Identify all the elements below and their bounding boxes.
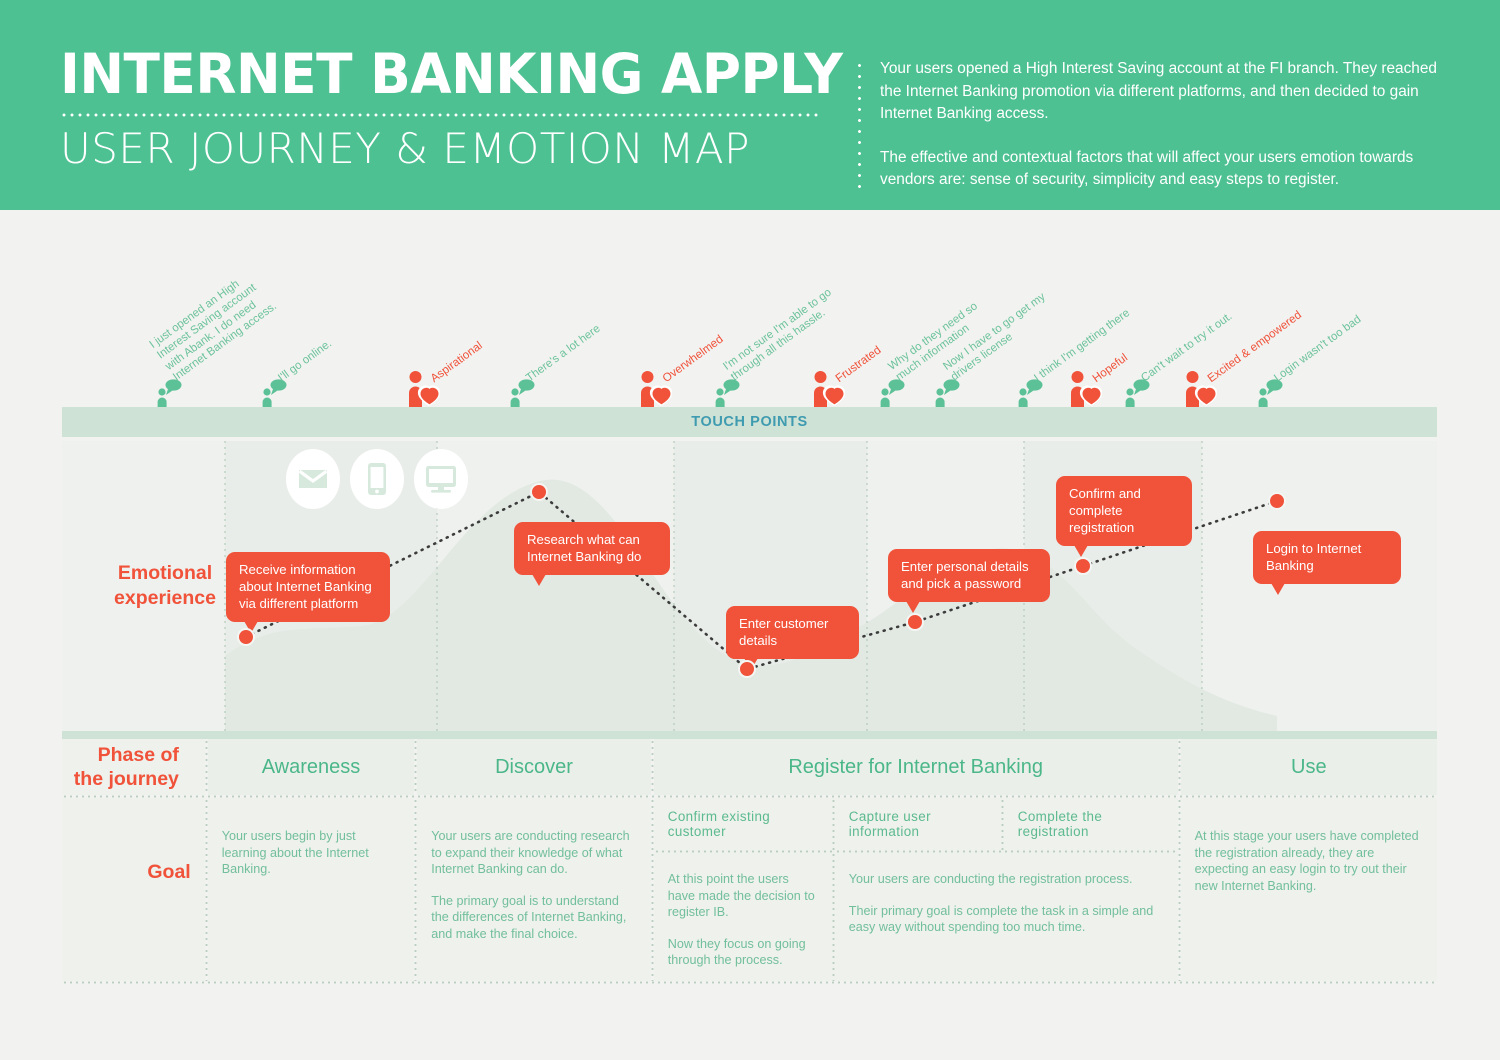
goal-cell-discover: Your users are conducting research to ex…: [417, 798, 650, 981]
emotional-experience-label-line1: Emotional: [118, 562, 212, 584]
emotion-data-point-5[interactable]: [1074, 557, 1092, 575]
goal-cell-awareness: Your users begin by just learning about …: [208, 798, 415, 981]
emotion-callout-5[interactable]: Confirm andcompleteregistration: [1056, 476, 1192, 546]
emotion-callout-line: Banking: [1266, 558, 1314, 573]
divider: [62, 981, 1437, 984]
goal-cell-register: Confirm existing customer At this point …: [654, 798, 1178, 981]
header-description-paragraph-1: Your users opened a High Interest Saving…: [880, 58, 1450, 126]
phase-cell-use: Use: [1181, 739, 1437, 795]
emotion-data-point-6[interactable]: [1268, 492, 1286, 510]
goal-subcolumn-confirm: Confirm existing customer At this point …: [654, 798, 832, 981]
goal-text: Your users are conducting the registrati…: [849, 871, 1160, 888]
mobile-phone-icon: [350, 449, 404, 509]
emotion-callout-line: and pick a password: [901, 576, 1021, 591]
header-description: Your users opened a High Interest Saving…: [880, 58, 1450, 213]
touch-point-label: I just opened an HighInterest Saving acc…: [147, 268, 279, 385]
touch-point-label-line: I'm not sure I'm able to go: [721, 287, 834, 373]
emotion-callout-6[interactable]: Login to InternetBanking: [1253, 531, 1401, 584]
goal-text: The primary goal is to understand the di…: [431, 893, 634, 943]
touch-point-label: Aspirational: [428, 339, 485, 385]
touch-point-label-line: There's a lot here: [524, 322, 602, 384]
phase-cell-discover: Discover: [417, 739, 650, 795]
goal-text: Your users are conducting research to ex…: [431, 828, 634, 878]
touch-point-label: There's a lot here: [524, 322, 603, 385]
touch-point-label-line: Aspirational: [428, 339, 485, 385]
header-banner: INTERNET BANKING APPLY USER JOURNEY & EM…: [0, 0, 1500, 210]
emotion-callout-line: Enter customer: [739, 616, 828, 631]
phase-name: Awareness: [262, 756, 361, 779]
emotion-callout-line: details: [739, 633, 777, 648]
emotion-callout-line: Research what can: [527, 532, 640, 547]
infographic-canvas: INTERNET BANKING APPLY USER JOURNEY & EM…: [0, 0, 1500, 1060]
touch-point-label-line: I'll go online.: [276, 337, 334, 384]
journey-table: Phase of the journey Awareness Discover …: [62, 731, 1437, 984]
goal-cell-use: At this stage your users have completed …: [1181, 798, 1437, 981]
touch-points-banner-label: TOUCH POINTS: [691, 414, 808, 430]
emotion-callout-line: registration: [1069, 520, 1134, 535]
touch-points-banner: TOUCH POINTS: [62, 407, 1437, 437]
emotion-callout-line: Internet Banking do: [527, 549, 641, 564]
emotion-callout-line: Enter personal details: [901, 559, 1029, 574]
header-description-paragraph-2: The effective and contextual factors tha…: [880, 147, 1450, 192]
goal-subheader: Complete the registration: [1004, 798, 1176, 850]
emotion-data-point-3[interactable]: [738, 660, 756, 678]
touch-point-label: Frustrated: [833, 343, 884, 385]
goal-subheader: Confirm existing customer: [654, 798, 832, 850]
emotion-data-point-4[interactable]: [906, 613, 924, 631]
phase-row-label-line1: Phase of: [98, 744, 179, 766]
phase-name: Use: [1291, 756, 1327, 779]
goal-row-label-text: Goal: [147, 861, 190, 883]
emotion-callout-1[interactable]: Receive informationabout Internet Bankin…: [226, 552, 390, 622]
emotion-callout-line: Confirm and: [1069, 486, 1141, 501]
goal-subheader-complete-wrap: Complete the registration: [1004, 798, 1176, 850]
goal-row-label: Goal: [62, 798, 205, 981]
goal-subheader: Capture user information: [835, 798, 1001, 850]
phase-row-label-line2: the journey: [74, 768, 179, 790]
title-block: INTERNET BANKING APPLY USER JOURNEY & EM…: [60, 44, 830, 173]
phase-name: Register for Internet Banking: [788, 756, 1043, 779]
phase-name: Discover: [495, 756, 573, 779]
emotional-experience-label: Emotional experience: [90, 561, 240, 611]
emotion-callout-4[interactable]: Enter personal detailsand pick a passwor…: [888, 549, 1050, 602]
title-divider: [60, 113, 820, 117]
goal-text: Your users begin by just learning about …: [222, 828, 399, 878]
emotion-callout-line: about Internet Banking: [239, 579, 372, 594]
phase-cell-awareness: Awareness: [208, 739, 415, 795]
goal-subheader-capture-wrap: Capture user information: [835, 798, 1001, 850]
phase-cell-register: Register for Internet Banking: [654, 739, 1178, 795]
desktop-monitor-icon: [414, 449, 468, 509]
goal-subcolumn-capture-complete: Capture user information Complete the re…: [835, 798, 1176, 981]
channel-icons: [286, 449, 468, 509]
emotion-callout-line: complete: [1069, 503, 1123, 518]
touch-points-row: I just opened an HighInterest Saving acc…: [0, 215, 1500, 415]
goal-text: At this point the users have made the de…: [668, 871, 816, 921]
header-dotted-divider: [858, 60, 861, 192]
touch-point-label: I'll go online.: [276, 337, 335, 385]
emotion-data-point-1[interactable]: [237, 628, 255, 646]
emotion-callout-3[interactable]: Enter customerdetails: [726, 606, 859, 659]
envelope-icon: [286, 449, 340, 509]
page-subtitle: USER JOURNEY & EMOTION MAP: [60, 125, 830, 173]
goal-text: Their primary goal is complete the task …: [849, 903, 1160, 936]
phase-row: Phase of the journey Awareness Discover …: [62, 739, 1437, 795]
goal-row: Goal Your users begin by just learning a…: [62, 798, 1437, 981]
phase-row-label: Phase of the journey: [62, 739, 205, 795]
goal-text: At this stage your users have completed …: [1195, 828, 1421, 894]
emotion-callout-line: Receive information: [239, 562, 356, 577]
table-top-bar: [62, 731, 1437, 739]
emotion-callout-2[interactable]: Research what canInternet Banking do: [514, 522, 670, 575]
page-title: INTERNET BANKING APPLY: [60, 44, 807, 104]
emotion-data-point-2[interactable]: [530, 483, 548, 501]
emotional-experience-label-line2: experience: [114, 587, 216, 609]
goal-text: Now they focus on going through the proc…: [668, 936, 816, 969]
emotion-callout-line: Login to Internet: [1266, 541, 1361, 556]
emotion-callout-line: via different platform: [239, 596, 358, 611]
touch-point-label-line: Frustrated: [833, 343, 883, 385]
